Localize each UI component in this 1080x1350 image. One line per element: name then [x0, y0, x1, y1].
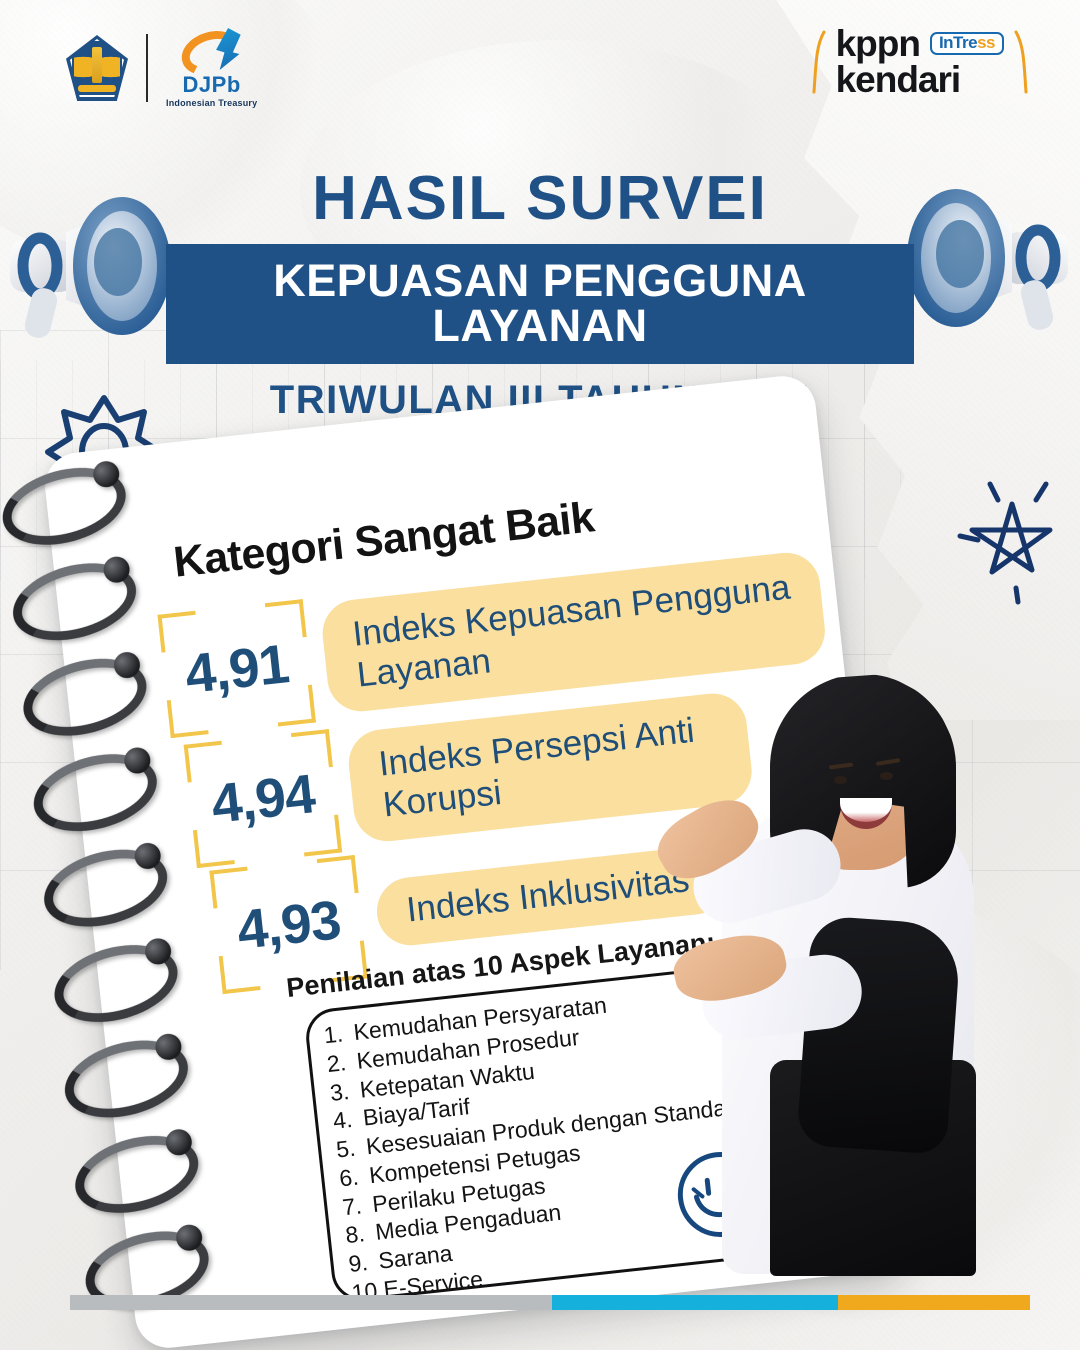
intress-suffix: ss [977, 33, 995, 52]
sketch-star-icon [954, 478, 1072, 606]
list-number: 4. [332, 1104, 365, 1136]
infographic-canvas: DJPb Indonesian Treasury kppn InTress ke… [0, 0, 1080, 1350]
intress-text: InTre [939, 33, 977, 52]
hijab-tail [796, 915, 962, 1155]
score-value: 4,91 [155, 597, 318, 740]
title-block: HASIL SURVEI KEPUASAN PENGGUNA LAYANAN T… [0, 168, 1080, 420]
djpb-abbrev: DJPb [183, 74, 241, 96]
djpb-subtitle: Indonesian Treasury [166, 98, 257, 108]
list-number: 5. [335, 1133, 368, 1165]
title-band: KEPUASAN PENGGUNA LAYANAN [166, 244, 914, 364]
kppn-word: kppn [836, 26, 920, 62]
score-value: 4,94 [181, 727, 344, 870]
bottom-accent-bar [70, 1295, 1030, 1310]
kendari-word: kendari [836, 62, 1004, 98]
page-title: HASIL SURVEI [0, 168, 1080, 230]
swish-right-icon [1012, 30, 1028, 94]
kemenkeu-emblem [66, 35, 128, 101]
bar-segment-orange [838, 1295, 1030, 1310]
score-badge: 4,91 [155, 597, 318, 740]
list-number: 1. [322, 1018, 355, 1050]
djpb-logo: DJPb Indonesian Treasury [166, 28, 257, 108]
eye [834, 776, 847, 784]
list-number: 9. [347, 1247, 380, 1279]
list-number: 8. [344, 1218, 377, 1250]
djpb-swoosh-icon [181, 28, 243, 72]
list-number: 2. [325, 1047, 358, 1079]
score-badge: 4,94 [181, 727, 344, 870]
logo-divider [146, 34, 148, 102]
kppn-kendari-logo: kppn InTress kendari [812, 26, 1028, 97]
djpb-logo-group: DJPb Indonesian Treasury [66, 28, 257, 108]
bar-segment-cyan [552, 1295, 838, 1310]
swish-left-icon [812, 30, 828, 94]
eye [880, 772, 893, 780]
list-number: 3. [329, 1075, 362, 1107]
presenter-photo [674, 590, 1034, 1290]
list-number: 6. [338, 1161, 371, 1193]
bar-segment-gray [70, 1295, 552, 1310]
intress-badge: InTress [930, 32, 1004, 55]
list-number: 7. [341, 1190, 374, 1222]
